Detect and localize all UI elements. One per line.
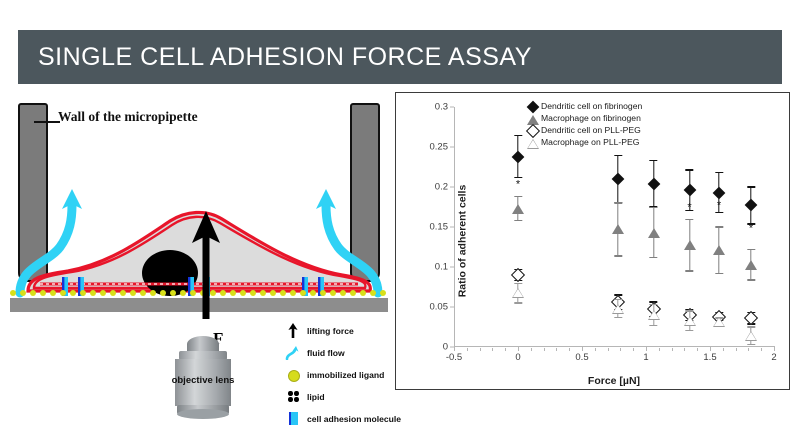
x-tick-mark (582, 346, 583, 351)
data-point-1 (648, 228, 660, 238)
data-point-3 (684, 316, 696, 326)
key-label-lifting-force: lifting force (307, 326, 354, 336)
x-tick-mark (518, 346, 519, 351)
objective-lens: objective lens (167, 335, 239, 420)
x-tick-mark (774, 346, 775, 351)
ligand-dot (50, 290, 56, 296)
ligand-dot (260, 290, 266, 296)
ligand-dot (270, 290, 276, 296)
chart-x-axis-title: Force [µN] (454, 375, 774, 387)
up-arrow-icon (285, 323, 301, 338)
micropipette-illustration: Wall of the micropipette (10, 95, 388, 425)
x-tick-mark (531, 348, 532, 351)
data-point-1 (745, 260, 757, 270)
ligand-dot (370, 290, 376, 296)
x-tick-label: 0 (515, 352, 520, 363)
data-point-3 (745, 331, 757, 341)
data-point-0 (745, 199, 758, 212)
x-tick-mark (736, 348, 737, 351)
micropipette-wall-label: Wall of the micropipette (58, 109, 198, 125)
x-tick-mark (659, 348, 660, 351)
data-point-0 (647, 177, 660, 190)
ligand-dot (150, 290, 156, 296)
data-point-0 (611, 173, 624, 186)
x-tick-mark (454, 346, 455, 351)
y-axis-line (454, 107, 455, 347)
data-point-3 (612, 304, 624, 314)
ligand-dot (120, 290, 126, 296)
x-tick-mark (480, 348, 481, 351)
ligand-dot (240, 290, 246, 296)
ligand-dot (80, 290, 86, 296)
significance-marker: * (687, 202, 691, 213)
ligand-dot (360, 290, 366, 296)
ligand-dot (230, 290, 236, 296)
key-item-lifting-force: lifting force (285, 323, 390, 338)
ligand-dot (130, 290, 136, 296)
x-tick-mark (595, 348, 596, 351)
x-tick-mark (467, 348, 468, 351)
ligand-dot (70, 290, 76, 296)
page-title: SINGLE CELL ADHESION FORCE ASSAY (18, 43, 532, 72)
ligand-dot (340, 290, 346, 296)
x-tick-mark (556, 348, 557, 351)
data-point-3 (713, 317, 725, 327)
ligand-dot (100, 290, 106, 296)
significance-marker: * (717, 201, 721, 212)
y-tick-mark (450, 227, 454, 228)
adhesion-ratio-chart: Ratio of adherent cells Force [µN] Dendr… (395, 92, 790, 390)
illustration-key: lifting force fluid flow immobilized lig… (285, 323, 390, 426)
x-tick-mark (544, 348, 545, 351)
yellow-dot-icon (285, 367, 301, 382)
ligand-dot (30, 290, 36, 296)
key-item-fluid-flow: fluid flow (285, 345, 390, 360)
fluid-flow-icon (285, 345, 301, 360)
ligand-dot (310, 290, 316, 296)
key-label-cell-adhesion-molecule: cell adhesion molecule (307, 414, 401, 424)
x-tick-mark (684, 348, 685, 351)
x-tick-mark (710, 346, 711, 351)
lipid-dots-icon (285, 389, 301, 404)
ligand-dot (10, 290, 16, 296)
ligand-dot (20, 290, 26, 296)
label-leader-line (34, 121, 60, 123)
y-tick-mark (450, 107, 454, 108)
x-tick-label: 2 (771, 352, 776, 363)
x-tick-mark (646, 346, 647, 351)
ligand-dot (160, 290, 166, 296)
x-tick-mark (608, 348, 609, 351)
x-tick-mark (723, 348, 724, 351)
ligand-dot (330, 290, 336, 296)
slide-canvas: SINGLE CELL ADHESION FORCE ASSAY Wall of… (0, 0, 800, 435)
x-tick-mark (761, 348, 762, 351)
key-label-immobilized-ligand: immobilized ligand (307, 370, 384, 380)
chart-plot-area: 00.050.10.150.20.250.3-0.500.511.52**** (454, 107, 774, 347)
key-label-fluid-flow: fluid flow (307, 348, 345, 358)
x-tick-mark (633, 348, 634, 351)
ligand-dot (140, 290, 146, 296)
x-axis-line (454, 346, 774, 347)
x-tick-mark (620, 348, 621, 351)
data-point-1 (713, 245, 725, 255)
key-item-lipid: lipid (285, 389, 390, 404)
data-point-0 (512, 150, 525, 163)
x-tick-label: 1.5 (703, 352, 716, 363)
y-tick-mark (450, 267, 454, 268)
ligand-dot (60, 290, 66, 296)
ligand-dot (280, 290, 286, 296)
ligand-dot (290, 290, 296, 296)
y-tick-mark (450, 307, 454, 308)
key-label-lipid: lipid (307, 392, 325, 402)
data-point-1 (612, 224, 624, 234)
ligand-dot (350, 290, 356, 296)
ligand-dot (110, 290, 116, 296)
ligand-dot (170, 290, 176, 296)
y-tick-mark (450, 147, 454, 148)
significance-marker: * (516, 179, 520, 190)
data-point-3 (512, 288, 524, 298)
objective-lens-label: objective lens (167, 375, 239, 386)
ligand-dot (380, 290, 386, 296)
x-tick-mark (697, 348, 698, 351)
x-tick-mark (672, 348, 673, 351)
significance-marker: * (749, 224, 753, 235)
x-tick-mark (492, 348, 493, 351)
data-point-1 (512, 204, 524, 214)
data-point-0 (683, 184, 696, 197)
data-point-1 (684, 240, 696, 250)
ligand-dot (250, 290, 256, 296)
x-tick-label: 0.5 (575, 352, 588, 363)
ligand-dot (300, 290, 306, 296)
x-tick-mark (569, 348, 570, 351)
key-item-cell-adhesion-molecule: cell adhesion molecule (285, 411, 390, 426)
x-tick-mark (748, 348, 749, 351)
data-point-3 (648, 310, 660, 320)
ligand-dot (90, 290, 96, 296)
key-item-immobilized-ligand: immobilized ligand (285, 367, 390, 382)
x-tick-label: 1 (643, 352, 648, 363)
blue-bar-icon (285, 411, 301, 426)
x-tick-mark (505, 348, 506, 351)
data-point-0 (713, 186, 726, 199)
ligand-dot (320, 290, 326, 296)
slide-title-bar: SINGLE CELL ADHESION FORCE ASSAY (18, 30, 782, 84)
x-tick-label: -0.5 (446, 352, 462, 363)
ligand-dot (40, 290, 46, 296)
y-tick-mark (450, 187, 454, 188)
lifting-force-arrow (186, 211, 226, 321)
